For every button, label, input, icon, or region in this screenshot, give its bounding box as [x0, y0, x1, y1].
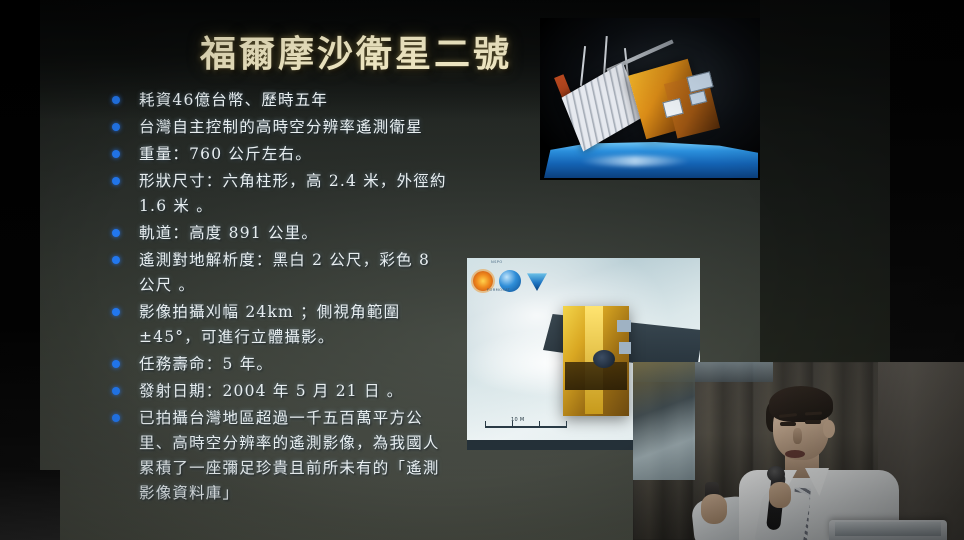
speaker-eye	[805, 420, 821, 424]
list-item-label: 軌道：高度 891 公里。	[139, 221, 452, 246]
list-item-label: 已拍攝台灣地區超過一千五百萬平方公里、高時空分辨率的遙測影像，為我國人累積了一座…	[139, 406, 452, 506]
scale-bar-label: 10 M	[511, 417, 524, 423]
bullet-dot-icon	[112, 96, 120, 104]
scale-bar	[485, 426, 567, 428]
list-item-label: 遙測對地解析度：黑白 2 公尺，彩色 8 公尺 。	[139, 248, 452, 298]
scale-tick	[485, 421, 486, 428]
speaker-mouth	[785, 450, 805, 458]
room-right-wall	[890, 0, 964, 362]
bullet-dot-icon	[112, 256, 120, 264]
bullet-dot-icon	[112, 229, 120, 237]
list-item: 重量：760 公斤左右。	[112, 142, 452, 167]
room-bottom-wall	[0, 470, 60, 540]
speaker-left-hand	[701, 494, 727, 524]
list-item: 遙測對地解析度：黑白 2 公尺，彩色 8 公尺 。	[112, 248, 452, 298]
list-item-label: 耗資46億台幣、歷時五年	[139, 88, 452, 113]
list-item: 軌道：高度 891 公里。	[112, 221, 452, 246]
logo-caption-top: NSPO	[491, 260, 503, 264]
earth-highlight	[580, 156, 690, 166]
list-item: 影像拍攝刈幅 24km ；側視角範圍 ±45°，可進行立體攝影。	[112, 300, 452, 350]
list-item-label: 形狀尺寸：六角柱形，高 2.4 米，外徑約 1.6 米 。	[139, 169, 452, 219]
satellite-render-image	[540, 18, 760, 180]
agency-logo-group	[473, 263, 569, 299]
bullet-dot-icon	[112, 150, 120, 158]
satellite-panel-chip	[619, 342, 631, 354]
room-right-shadow	[760, 0, 890, 362]
satellite-panel-chip	[617, 320, 631, 332]
bullet-dot-icon	[112, 360, 120, 368]
speaker-eye	[780, 422, 796, 426]
list-item: 形狀尺寸：六角柱形，高 2.4 米，外徑約 1.6 米 。	[112, 169, 452, 219]
triangle-logo-icon	[527, 271, 547, 291]
list-item-label: 重量：760 公斤左右。	[139, 142, 452, 167]
camera-lens-icon	[593, 350, 615, 368]
speaker-nose	[793, 428, 802, 444]
slide-title: 福爾摩沙衛星二號	[200, 33, 580, 75]
speaker-ear	[823, 420, 835, 438]
scale-tick	[566, 421, 567, 428]
speaker-video-overlay[interactable]	[633, 362, 964, 540]
list-item-label: 任務壽命：5 年。	[139, 352, 452, 377]
bullet-dot-icon	[112, 414, 120, 422]
bullet-dot-icon	[112, 177, 120, 185]
bullet-dot-icon	[112, 387, 120, 395]
list-item: 耗資46億台幣、歷時五年	[112, 88, 452, 113]
list-item-label: 發射日期：2004 年 5 月 21 日 。	[139, 379, 452, 404]
list-item: 任務壽命：5 年。	[112, 352, 452, 377]
list-item: 已拍攝台灣地區超過一千五百萬平方公里、高時空分辨率的遙測影像，為我國人累積了一座…	[112, 406, 452, 506]
room-left-wall	[0, 0, 40, 540]
satellite-lower-module	[565, 362, 627, 390]
laptop-screen	[835, 522, 941, 536]
projection-glow-left	[633, 362, 695, 480]
bullet-dot-icon	[112, 308, 120, 316]
logo-caption-bottom: FORMOSAT	[487, 288, 510, 292]
list-item-label: 影像拍攝刈幅 24km ；側視角範圍 ±45°，可進行立體攝影。	[139, 300, 452, 350]
list-item-label: 台灣自主控制的高時空分辨率遙測衛星	[139, 115, 452, 140]
list-item: 台灣自主控制的高時空分辨率遙測衛星	[112, 115, 452, 140]
slide-bullet-list: 耗資46億台幣、歷時五年 台灣自主控制的高時空分辨率遙測衛星 重量：760 公斤…	[112, 88, 452, 508]
list-item: 發射日期：2004 年 5 月 21 日 。	[112, 379, 452, 404]
scale-tick	[539, 421, 540, 428]
screenshot-root: 福爾摩沙衛星二號 耗資46億台幣、歷時五年 台灣自主控制的高時空分辨率遙測衛星 …	[0, 0, 964, 540]
speaker-hand-holding-mic	[769, 482, 791, 508]
bullet-dot-icon	[112, 123, 120, 131]
